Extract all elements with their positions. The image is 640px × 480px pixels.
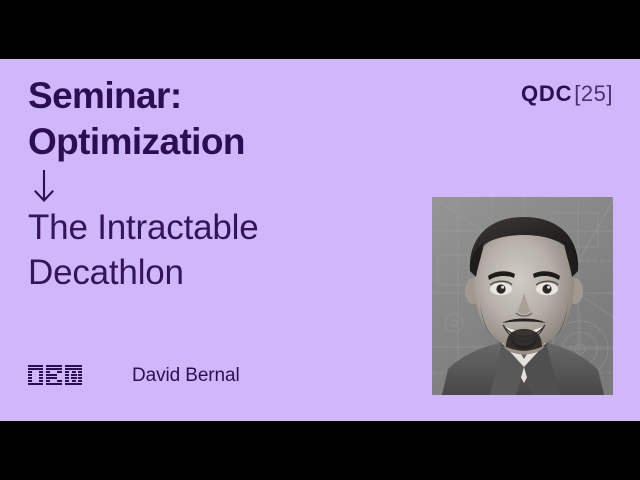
arrow-row bbox=[31, 169, 408, 203]
footer-row: David Bernal bbox=[28, 365, 240, 387]
speaker-portrait bbox=[432, 197, 613, 395]
slide-stage: QDC [25] Seminar: Optimization The Intra… bbox=[0, 59, 640, 421]
subtitle-line-1: The Intractable bbox=[28, 205, 408, 250]
subtitle-line-2: Decathlon bbox=[28, 250, 408, 295]
letterbox-bar-top bbox=[0, 0, 640, 59]
title-line-1: Seminar: bbox=[28, 73, 408, 119]
qdc-logo-lockup: QDC [25] bbox=[521, 83, 613, 105]
speaker-portrait-image bbox=[432, 197, 613, 395]
qdc-wordmark: QDC bbox=[521, 83, 572, 105]
letterbox-bar-bottom bbox=[0, 421, 640, 480]
headline-block: Seminar: Optimization The Intractable De… bbox=[28, 73, 408, 295]
title-line-2: Optimization bbox=[28, 119, 408, 165]
arrow-down-icon bbox=[31, 169, 57, 203]
subtitle-block: The Intractable Decathlon bbox=[28, 205, 408, 295]
video-slide: QDC [25] Seminar: Optimization The Intra… bbox=[0, 0, 640, 480]
qdc-year-badge: [25] bbox=[574, 83, 613, 105]
ibm-logo-icon bbox=[28, 365, 82, 387]
speaker-name: David Bernal bbox=[132, 365, 240, 387]
